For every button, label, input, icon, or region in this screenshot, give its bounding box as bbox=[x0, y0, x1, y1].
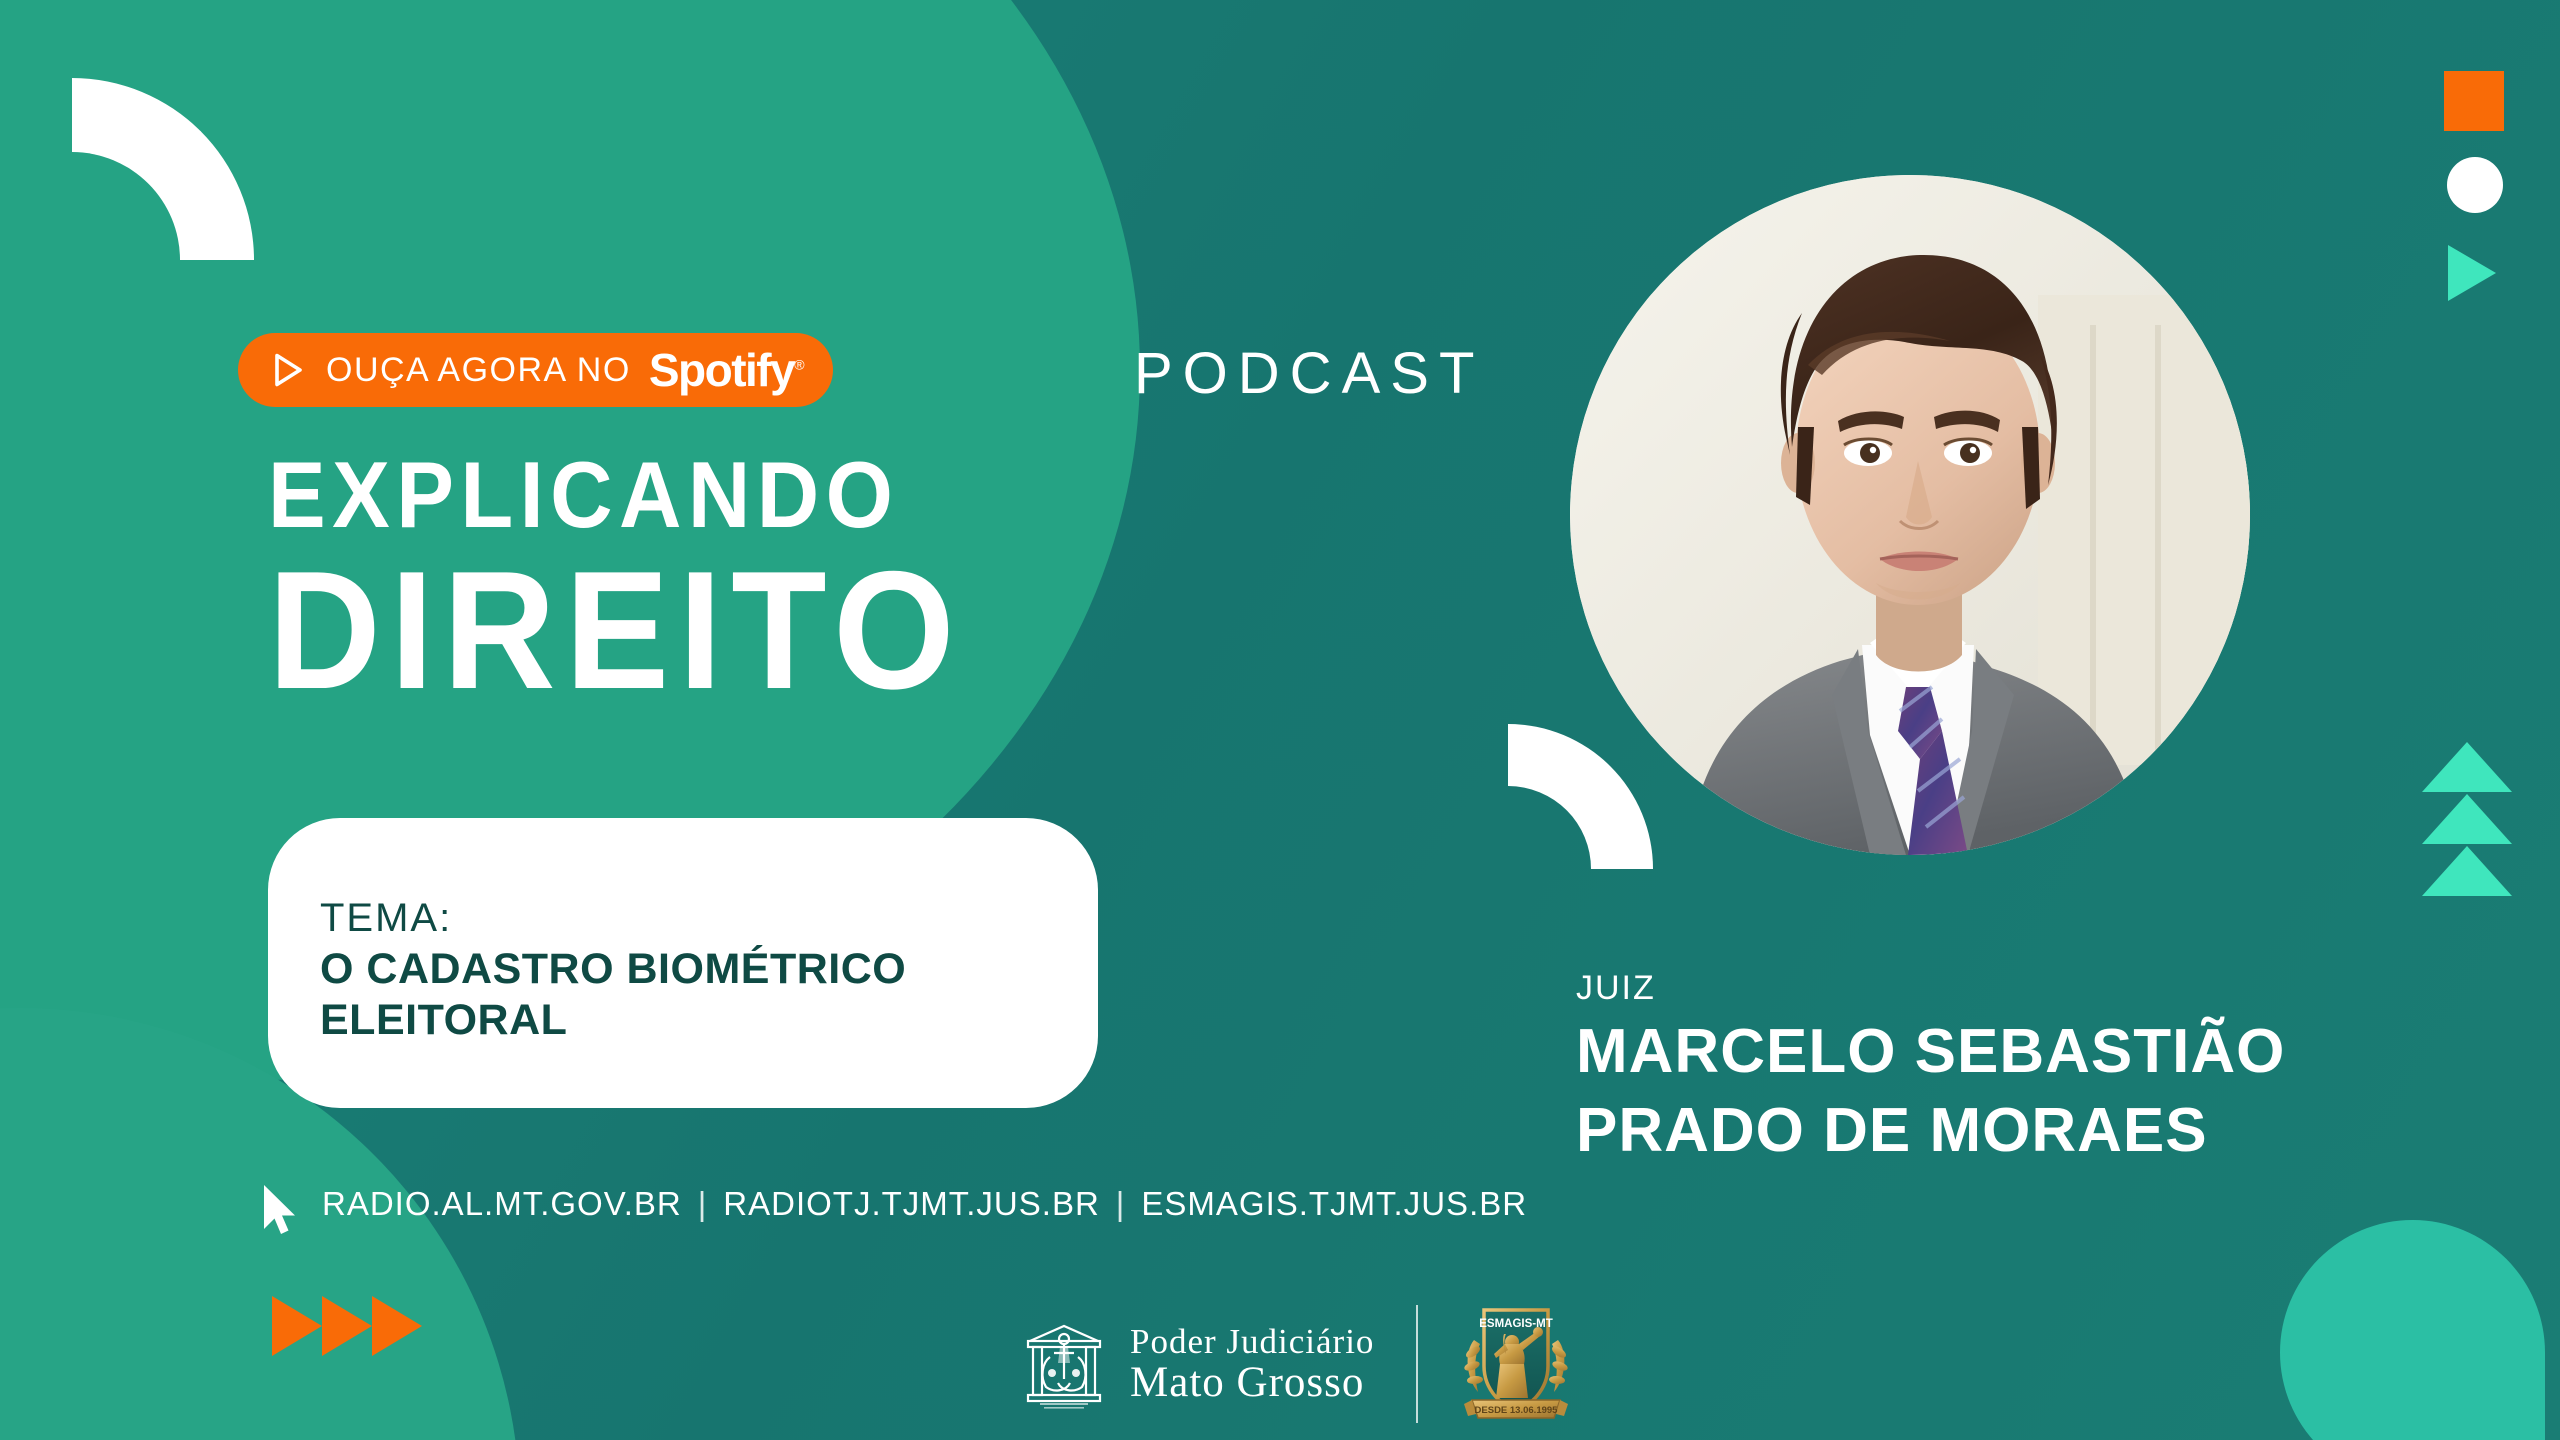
spotify-word-text: Spotify bbox=[649, 344, 794, 396]
background-blob-bottom-right bbox=[2280, 1220, 2545, 1440]
mint-triangle-up-icon bbox=[2422, 742, 2512, 792]
page-title: EXPLICANDO DIREITO bbox=[268, 448, 1016, 713]
esmagis-shield-icon: ESMAGIS-MT DESDE 13.06.1995 bbox=[1460, 1300, 1572, 1428]
spotify-badge-prefix: OUÇA AGORA NO bbox=[326, 351, 631, 390]
orange-arrow-right-icon bbox=[272, 1296, 322, 1356]
spotify-wordmark: Spotify® bbox=[649, 343, 803, 397]
orange-arrow-right-icon bbox=[372, 1296, 422, 1356]
podcast-promo-card: OUÇA AGORA NO Spotify® PODCAST EXPLICAND… bbox=[0, 0, 2560, 1440]
mint-triangle-up-icon bbox=[2422, 846, 2512, 896]
theme-card: TEMA: O CADASTRO BIOMÉTRICO ELEITORAL bbox=[268, 818, 1098, 1108]
guest-name-line-2: PRADO DE MORAES bbox=[1576, 1098, 2285, 1165]
logo-divider bbox=[1416, 1305, 1418, 1423]
urls-list: RADIO.AL.MT.GOV.BR | RADIOTJ.TJMT.JUS.BR… bbox=[322, 1185, 1527, 1223]
title-line-2: DIREITO bbox=[268, 548, 964, 713]
guest-info: JUIZ MARCELO SEBASTIÃO PRADO DE MORAES bbox=[1576, 970, 2285, 1165]
theme-label: TEMA: bbox=[320, 896, 1098, 940]
guest-role: JUIZ bbox=[1576, 970, 2285, 1007]
poder-judiciario-crest-icon bbox=[1020, 1317, 1108, 1412]
title-line-1: EXPLICANDO bbox=[268, 448, 956, 542]
url-item-1[interactable]: RADIO.AL.MT.GOV.BR bbox=[322, 1185, 682, 1223]
mint-triangle-right-icon bbox=[2448, 245, 2496, 301]
podcast-label: PODCAST bbox=[1134, 340, 1484, 407]
theme-title: O CADASTRO BIOMÉTRICO ELEITORAL bbox=[320, 944, 1060, 1045]
esmagis-banner: DESDE 13.06.1995 bbox=[1475, 1405, 1559, 1416]
orange-arrow-group bbox=[272, 1296, 422, 1356]
poder-judiciario-logo: Poder Judiciário Mato Grosso bbox=[1020, 1317, 1374, 1412]
mint-triangle-up-icon bbox=[2422, 794, 2512, 844]
orange-square-icon bbox=[2444, 71, 2504, 131]
spotify-listen-badge[interactable]: OUÇA AGORA NO Spotify® bbox=[238, 333, 833, 407]
url-separator: | bbox=[682, 1185, 724, 1223]
guest-name-line-1: MARCELO SEBASTIÃO bbox=[1576, 1019, 2285, 1086]
esmagis-title: ESMAGIS-MT bbox=[1480, 1318, 1553, 1330]
white-circle-icon bbox=[2447, 157, 2503, 213]
play-triangle-outline-icon bbox=[266, 349, 308, 391]
judiciary-line-2: Mato Grosso bbox=[1130, 1361, 1374, 1404]
url-separator: | bbox=[1100, 1185, 1142, 1223]
url-item-2[interactable]: RADIOTJ.TJMT.JUS.BR bbox=[723, 1185, 1100, 1223]
portrait-illustration bbox=[1570, 175, 2250, 855]
judiciary-line-1: Poder Judiciário bbox=[1130, 1324, 1374, 1359]
registered-mark: ® bbox=[794, 357, 803, 373]
mouse-cursor-icon bbox=[258, 1182, 298, 1238]
orange-arrow-right-icon bbox=[322, 1296, 372, 1356]
quarter-arc-icon bbox=[1508, 724, 1653, 869]
footer-logos: Poder Judiciário Mato Grosso bbox=[1020, 1300, 1572, 1428]
guest-portrait bbox=[1570, 175, 2250, 855]
url-item-3[interactable]: ESMAGIS.TJMT.JUS.BR bbox=[1141, 1185, 1527, 1223]
poder-judiciario-text: Poder Judiciário Mato Grosso bbox=[1130, 1324, 1374, 1404]
